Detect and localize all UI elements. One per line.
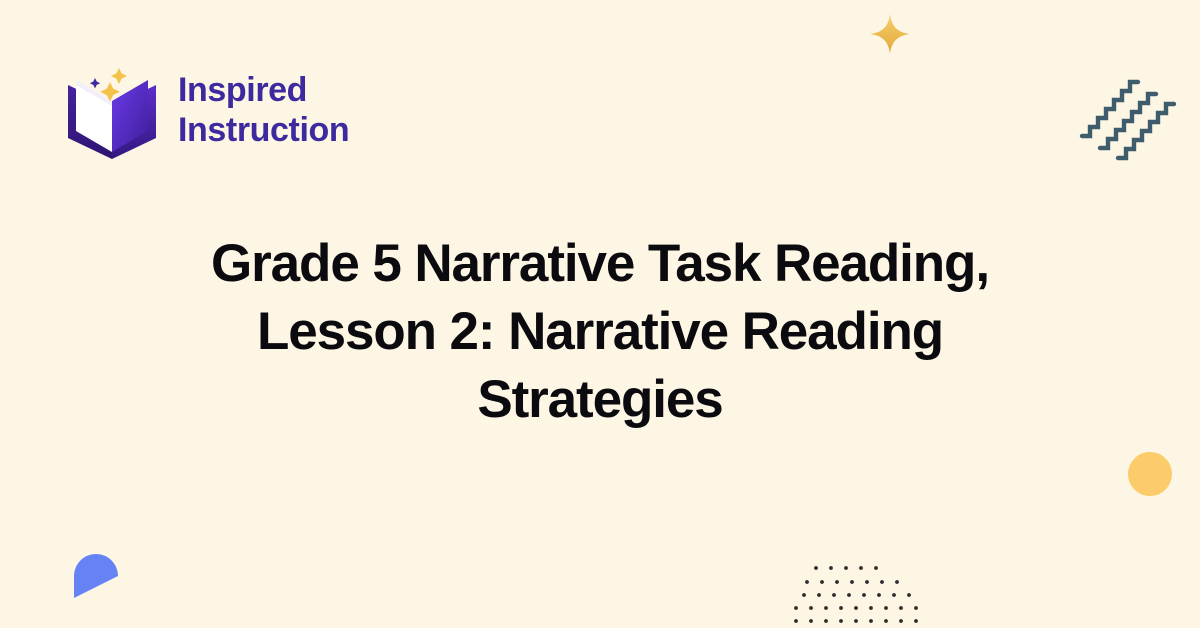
title-container: Grade 5 Narrative Task Reading, Lesson 2… — [0, 0, 1200, 628]
page-title: Grade 5 Narrative Task Reading, Lesson 2… — [150, 230, 1050, 433]
title-card: Inspired Instruction Grade 5 Narrative T… — [0, 0, 1200, 628]
